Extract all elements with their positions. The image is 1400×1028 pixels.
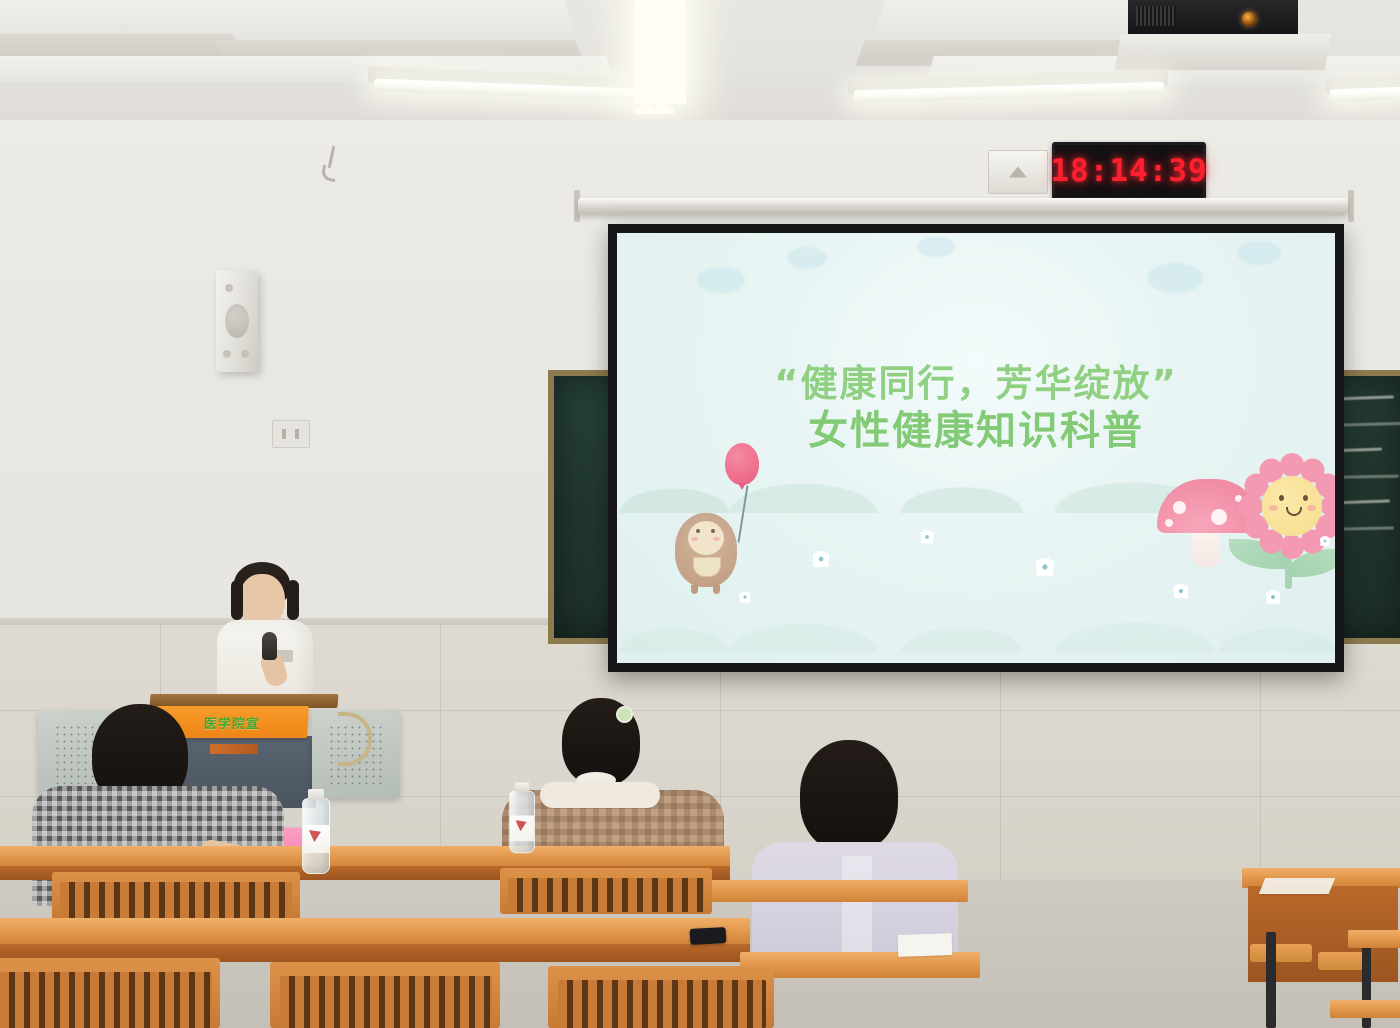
wall-sensor-box [988, 150, 1048, 194]
slide-title-line1: “健康同行，芳华绽放” [774, 362, 1178, 405]
projector-ceiling-mount [1115, 34, 1331, 70]
classroom-scene: 18:14:39 “健康同行，芳华绽放” 女性健康知识科普 [0, 0, 1400, 1028]
led-wall-clock: 18:14:39 [1052, 142, 1206, 200]
projector [1128, 0, 1298, 36]
presenter-at-podium [205, 560, 325, 710]
projector-vent [1136, 6, 1176, 26]
daisy-decoration [813, 551, 829, 567]
slide-title-line2: 女性健康知识科普 [617, 407, 1335, 457]
seat-slats [280, 976, 492, 1028]
daisy-decoration [921, 531, 934, 544]
water-bottle-left[interactable] [302, 798, 330, 874]
pendant-light [634, 0, 686, 104]
shirt-placket [842, 856, 872, 966]
speaker-cone-icon [225, 304, 249, 338]
cloud-decoration [1237, 241, 1281, 265]
desk-row-back [0, 846, 730, 868]
seat-slats [60, 882, 292, 918]
bottle-label [303, 825, 329, 853]
seat-slats [558, 980, 766, 1028]
bottle-cap [308, 789, 324, 800]
desk-row-front-right [740, 952, 980, 978]
daisy-decoration [739, 591, 750, 602]
projector-lens-icon [1242, 12, 1256, 26]
paper-sheet-on-desk-right[interactable] [1259, 878, 1335, 894]
cloud-decoration [1147, 263, 1203, 293]
screen-bracket-right [1348, 190, 1354, 222]
slide-title: “健康同行，芳华绽放” 女性健康知识科普 [617, 361, 1335, 456]
water-bottle-center[interactable] [509, 791, 535, 854]
seat-slats [508, 878, 704, 912]
hedgehog-decoration [675, 513, 737, 587]
desk-row-back-right [700, 880, 968, 902]
desk-row-front [0, 918, 750, 946]
hedgehog-basket [693, 557, 721, 577]
desk-right-lowest [1330, 1000, 1400, 1018]
daisy-decoration [1174, 584, 1188, 598]
seat-slats [0, 972, 212, 1028]
tube-light-right [1330, 87, 1400, 102]
folding-seat-right-1[interactable] [1250, 944, 1312, 962]
folding-seat-right-2[interactable] [1318, 952, 1368, 970]
daisy-decoration [1320, 536, 1330, 546]
daisy-decoration [1266, 590, 1280, 604]
screen-roller[interactable] [578, 198, 1348, 214]
paper-sheet-on-desk[interactable] [898, 933, 953, 957]
bottle-cap [515, 782, 530, 792]
desk-leg [1266, 932, 1276, 1028]
clock-time: 18:14:39 [1050, 153, 1207, 189]
cloud-decoration [697, 267, 745, 293]
balloon-decoration [725, 443, 759, 485]
audience-head [800, 740, 898, 852]
desk-right-lower [1348, 930, 1400, 948]
wall-speaker [216, 270, 258, 372]
power-outlet[interactable] [272, 420, 310, 448]
smartphone-on-desk[interactable] [690, 927, 727, 945]
daisy-decoration [1036, 558, 1054, 576]
hair-clip [616, 706, 633, 723]
cloud-decoration [787, 247, 827, 269]
slide-surface: “健康同行，芳华绽放” 女性健康知识科普 演讲人：韦惠琼 时间：3月8日 [617, 233, 1335, 663]
cloud-decoration [917, 237, 955, 257]
collar [540, 782, 660, 808]
projection-screen[interactable]: “健康同行，芳华绽放” 女性健康知识科普 演讲人：韦惠琼 时间：3月8日 [608, 224, 1344, 672]
microphone [262, 632, 277, 660]
bottle-label [510, 816, 534, 842]
